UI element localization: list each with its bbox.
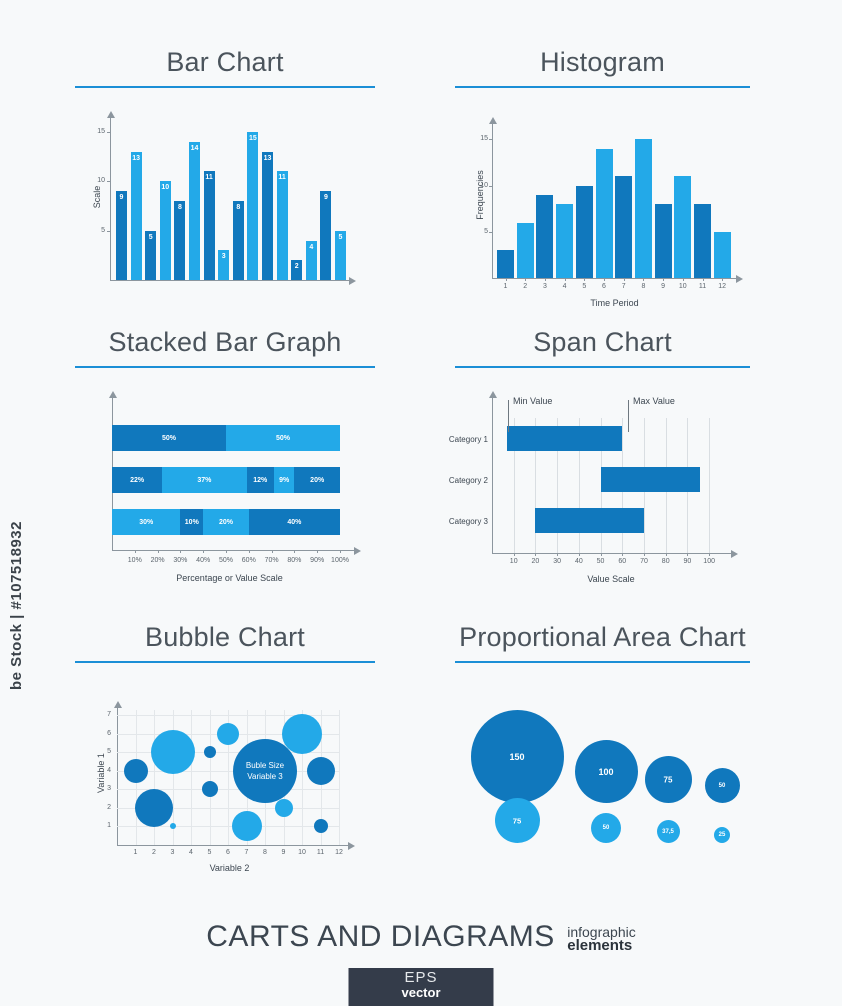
panel-title-stacked-bar: Stacked Bar Graph [75, 325, 375, 359]
x-tick-label: 30 [547, 558, 567, 565]
x-tick-mark [643, 278, 644, 281]
span-bar [507, 426, 622, 451]
x-tick-mark [317, 550, 318, 553]
bar [615, 176, 632, 278]
panel-title-span-chart: Span Chart [455, 325, 750, 359]
badge-eps-label: EPS [349, 970, 494, 986]
stacked-bar-row: 30%10%20%40% [112, 509, 340, 535]
proportional-circle: 50 [705, 768, 740, 803]
bar [635, 139, 652, 278]
x-tick-mark [506, 278, 507, 281]
title-rule [75, 661, 375, 663]
y-tick-mark [489, 139, 493, 140]
proportional-circle: 25 [714, 827, 730, 843]
y-axis-line [110, 118, 111, 280]
title-rule [455, 86, 750, 88]
x-tick-mark [624, 278, 625, 281]
bar [694, 204, 711, 278]
proportional-circle: 100 [575, 740, 638, 803]
bar-value-label: 9 [116, 194, 127, 201]
bar [655, 204, 672, 278]
y-axis-arrow [114, 701, 122, 708]
proportional-circle-label: 37,5 [657, 829, 680, 835]
bar-value-label: 9 [320, 194, 331, 201]
stacked-bar-segment: 40% [249, 509, 340, 535]
x-tick-label: 100% [326, 557, 354, 564]
proportional-circle-label: 100 [575, 767, 638, 777]
bar: 13 [262, 152, 273, 280]
y-tick-mark [489, 232, 493, 233]
gridline [709, 418, 710, 553]
y-axis-arrow [489, 117, 497, 124]
x-tick-label: 50 [591, 558, 611, 565]
bubble-chart-plot: Variable 1 Variable 2 Buble SizeVariable… [85, 700, 375, 875]
x-tick-label: 20 [525, 558, 545, 565]
x-tick-mark [687, 553, 688, 556]
footer-title: CARTS AND DIAGRAMS [206, 920, 555, 954]
bubble [275, 799, 293, 817]
bar-value-label: 3 [218, 253, 229, 260]
bubble [307, 757, 335, 785]
proportional-circle: 75 [495, 798, 540, 843]
x-tick-mark [135, 550, 136, 553]
x-tick-label: 11 [312, 849, 330, 856]
x-axis-line [112, 550, 355, 551]
panel-proportional-area: Proportional Area Chart [455, 620, 750, 663]
bar-value-label: 10 [160, 184, 171, 191]
x-axis-arrow [731, 550, 738, 558]
x-tick-mark [663, 278, 664, 281]
y-tick-mark [107, 132, 111, 133]
bubble [202, 781, 218, 797]
x-tick-mark [683, 278, 684, 281]
bar: 8 [233, 201, 244, 280]
title-rule [455, 366, 750, 368]
max-value-note: Max Value [633, 396, 675, 406]
x-tick-label: 9 [275, 849, 293, 856]
x-axis-line [117, 845, 349, 846]
bar [556, 204, 573, 278]
x-tick-label: 5 [201, 849, 219, 856]
x-tick-mark [703, 278, 704, 281]
x-tick-label: 2 [517, 283, 534, 290]
x-tick-mark [722, 278, 723, 281]
y-tick-label: 2 [97, 804, 111, 811]
x-axis-label: Time Period [492, 298, 737, 308]
x-tick-label: 90 [677, 558, 697, 565]
stacked-bar-segment: 20% [203, 509, 249, 535]
span-category-label: Category 3 [422, 517, 488, 526]
stacked-bar-row: 50%50% [112, 425, 340, 451]
gridline-horizontal [117, 771, 339, 772]
x-tick-mark [514, 553, 515, 556]
bubble [124, 759, 148, 783]
y-tick-mark [107, 181, 111, 182]
bar: 4 [306, 241, 317, 281]
stacked-bar-segment: 30% [112, 509, 180, 535]
panel-title-bar-chart: Bar Chart [75, 45, 375, 79]
x-tick-label: 7 [238, 849, 256, 856]
proportional-circle-label: 150 [471, 752, 564, 762]
x-tick-mark [604, 278, 605, 281]
x-tick-label: 3 [164, 849, 182, 856]
bubble [204, 746, 216, 758]
x-tick-label: 60 [612, 558, 632, 565]
bar-value-label: 5 [335, 234, 346, 241]
bar: 5 [335, 231, 346, 280]
footer: CARTS AND DIAGRAMS infographic elements [0, 920, 842, 954]
x-tick-mark [294, 550, 295, 553]
y-tick-label: 10 [83, 177, 105, 184]
bar: 11 [277, 171, 288, 280]
x-tick-mark [545, 278, 546, 281]
proportional-circle-label: 50 [705, 783, 740, 789]
bar-value-label: 5 [145, 234, 156, 241]
title-rule [455, 661, 750, 663]
x-tick-label: 12 [714, 283, 731, 290]
y-tick-mark [489, 186, 493, 187]
footer-subtitle-line2: elements [567, 939, 636, 952]
min-value-note: Min Value [513, 396, 552, 406]
bar: 9 [116, 191, 127, 280]
x-axis-arrow [354, 547, 361, 555]
gridline-vertical [210, 710, 211, 845]
proportional-circle: 37,5 [657, 820, 680, 843]
bubble [232, 811, 262, 841]
stacked-bar-plot: Percentage or Value Scale 50%50%22%37%12… [95, 390, 365, 580]
y-tick-label: 15 [466, 135, 488, 142]
bar: 5 [145, 231, 156, 280]
span-category-label: Category 2 [422, 476, 488, 485]
span-bar [601, 467, 701, 492]
stacked-bar-segment: 22% [112, 467, 162, 493]
x-tick-label: 10 [504, 558, 524, 565]
panel-stacked-bar: Stacked Bar Graph [75, 325, 375, 368]
x-tick-mark [565, 278, 566, 281]
y-tick-label: 1 [97, 822, 111, 829]
x-tick-label: 9 [655, 283, 672, 290]
bar: 10 [160, 181, 171, 280]
bubble [170, 823, 176, 829]
bar-value-label: 11 [204, 174, 215, 181]
x-tick-label: 6 [596, 283, 613, 290]
x-tick-mark [584, 278, 585, 281]
x-tick-mark [525, 278, 526, 281]
bar: 3 [218, 250, 229, 280]
x-axis-arrow [349, 277, 356, 285]
watermark-id: be Stock | #107518932 [8, 521, 25, 690]
x-axis-arrow [736, 275, 743, 283]
stacked-bar-segment: 12% [247, 467, 274, 493]
bar: 11 [204, 171, 215, 280]
x-tick-label: 10 [293, 849, 311, 856]
x-tick-mark [579, 553, 580, 556]
gridline-vertical [339, 710, 340, 845]
x-axis-label: Variable 2 [117, 863, 342, 873]
bar: 9 [320, 191, 331, 280]
panel-title-histogram: Histogram [455, 45, 750, 79]
badge-vector-label: vector [349, 986, 494, 999]
histogram-plot: Frequencies Time Period 51015 1234567891… [462, 118, 752, 298]
x-axis-label: Percentage or Value Scale [112, 573, 347, 583]
proportional-circle-label: 25 [714, 832, 730, 838]
bar: 15 [247, 132, 258, 280]
x-tick-mark [622, 553, 623, 556]
stacked-bar-segment: 9% [274, 467, 295, 493]
bar-value-label: 2 [291, 263, 302, 270]
bar-value-label: 11 [277, 174, 288, 181]
x-tick-mark [709, 553, 710, 556]
x-axis-line [492, 553, 732, 554]
x-tick-label: 8 [635, 283, 652, 290]
bar-value-label: 8 [233, 204, 244, 211]
bar [674, 176, 691, 278]
span-category-label: Category 1 [422, 435, 488, 444]
x-tick-label: 4 [556, 283, 573, 290]
title-rule [75, 86, 375, 88]
x-tick-label: 7 [615, 283, 632, 290]
bar [596, 149, 613, 279]
title-rule [75, 366, 375, 368]
panel-histogram: Histogram [455, 45, 750, 88]
span-chart-plot: Value Scale Category 1Category 2Category… [430, 388, 750, 583]
bar: 14 [189, 142, 200, 280]
x-axis-label: Value Scale [492, 574, 730, 584]
x-tick-label: 5 [576, 283, 593, 290]
y-tick-mark [107, 231, 111, 232]
y-axis-arrow [107, 111, 115, 118]
stacked-bar-segment: 37% [162, 467, 246, 493]
y-tick-label: 5 [97, 748, 111, 755]
y-axis-arrow [109, 391, 117, 398]
bubble [314, 819, 328, 833]
x-tick-mark [340, 550, 341, 553]
bubble [217, 723, 239, 745]
stacked-bar-segment: 50% [112, 425, 226, 451]
bar [536, 195, 553, 278]
x-tick-label: 3 [536, 283, 553, 290]
y-tick-label: 3 [97, 785, 111, 792]
bar [576, 186, 593, 279]
x-tick-label: 40 [569, 558, 589, 565]
bar-value-label: 13 [131, 155, 142, 162]
bubble-center-label: Buble SizeVariable 3 [233, 760, 297, 782]
x-tick-mark [226, 550, 227, 553]
eps-vector-badge: EPS vector [349, 968, 494, 1006]
x-tick-label: 100 [699, 558, 719, 565]
y-tick-label: 4 [97, 767, 111, 774]
bar [517, 223, 534, 279]
bar-value-label: 15 [247, 135, 258, 142]
bubble [151, 730, 195, 774]
panel-span-chart: Span Chart [455, 325, 750, 368]
y-axis-line [492, 398, 493, 553]
bubble [282, 714, 322, 754]
x-tick-mark [666, 553, 667, 556]
bar-value-label: 14 [189, 145, 200, 152]
x-tick-mark [249, 550, 250, 553]
x-tick-mark [272, 550, 273, 553]
stacked-bar-row: 22%37%12%9%20% [112, 467, 340, 493]
y-tick-label: 7 [97, 711, 111, 718]
bar-value-label: 13 [262, 155, 273, 162]
footer-subtitle: infographic elements [567, 926, 636, 952]
bubble [135, 789, 173, 827]
x-tick-mark [644, 553, 645, 556]
bar: 2 [291, 260, 302, 280]
x-tick-mark [158, 550, 159, 553]
bar [714, 232, 731, 278]
bar-value-label: 4 [306, 244, 317, 251]
bar-chart-plot: Scale 51015 91351081411381513112495 [85, 110, 365, 285]
bar: 13 [131, 152, 142, 280]
x-tick-mark [601, 553, 602, 556]
min-value-marker [508, 400, 509, 432]
panel-title-proportional-area: Proportional Area Chart [455, 620, 750, 654]
x-tick-label: 1 [497, 283, 514, 290]
y-tick-label: 5 [466, 228, 488, 235]
x-axis-line [492, 278, 737, 279]
panel-bar-chart: Bar Chart [75, 45, 375, 88]
x-tick-label: 1 [127, 849, 145, 856]
proportional-area-plot: 1501007550755037,525 [460, 700, 750, 860]
proportional-circle: 150 [471, 710, 564, 803]
bar [497, 250, 514, 278]
y-tick-label: 6 [97, 730, 111, 737]
infographic-page: be Stock | #107518932 Bar Chart Scale 51… [0, 0, 842, 1000]
proportional-circle-label: 75 [495, 816, 540, 825]
x-tick-mark [180, 550, 181, 553]
y-tick-label: 10 [466, 182, 488, 189]
span-bar [535, 508, 644, 533]
panel-title-bubble-chart: Bubble Chart [75, 620, 375, 654]
x-tick-label: 70 [634, 558, 654, 565]
gridline-vertical [191, 710, 192, 845]
proportional-circle: 75 [645, 756, 692, 803]
x-tick-label: 10 [674, 283, 691, 290]
bar: 8 [174, 201, 185, 280]
y-axis-line [117, 708, 118, 845]
y-tick-label: 5 [83, 227, 105, 234]
proportional-circle-label: 75 [645, 775, 692, 784]
x-tick-label: 4 [182, 849, 200, 856]
y-axis-label: Frequencies [475, 165, 485, 225]
x-tick-mark [535, 553, 536, 556]
panel-bubble-chart: Bubble Chart [75, 620, 375, 663]
x-tick-label: 80 [656, 558, 676, 565]
x-tick-mark [203, 550, 204, 553]
stacked-bar-segment: 50% [226, 425, 340, 451]
x-axis-line [110, 280, 350, 281]
max-value-marker [628, 400, 629, 432]
x-tick-mark [557, 553, 558, 556]
proportional-circle: 50 [591, 813, 621, 843]
x-tick-label: 2 [145, 849, 163, 856]
y-axis-line [492, 124, 493, 278]
y-tick-label: 15 [83, 128, 105, 135]
y-axis-arrow [489, 391, 497, 398]
x-tick-label: 11 [694, 283, 711, 290]
x-tick-label: 12 [330, 849, 348, 856]
x-tick-label: 6 [219, 849, 237, 856]
x-axis-arrow [348, 842, 355, 850]
stacked-bar-segment: 20% [294, 467, 340, 493]
proportional-circle-label: 50 [591, 825, 621, 831]
bar-value-label: 8 [174, 204, 185, 211]
x-tick-label: 8 [256, 849, 274, 856]
stacked-bar-segment: 10% [180, 509, 203, 535]
